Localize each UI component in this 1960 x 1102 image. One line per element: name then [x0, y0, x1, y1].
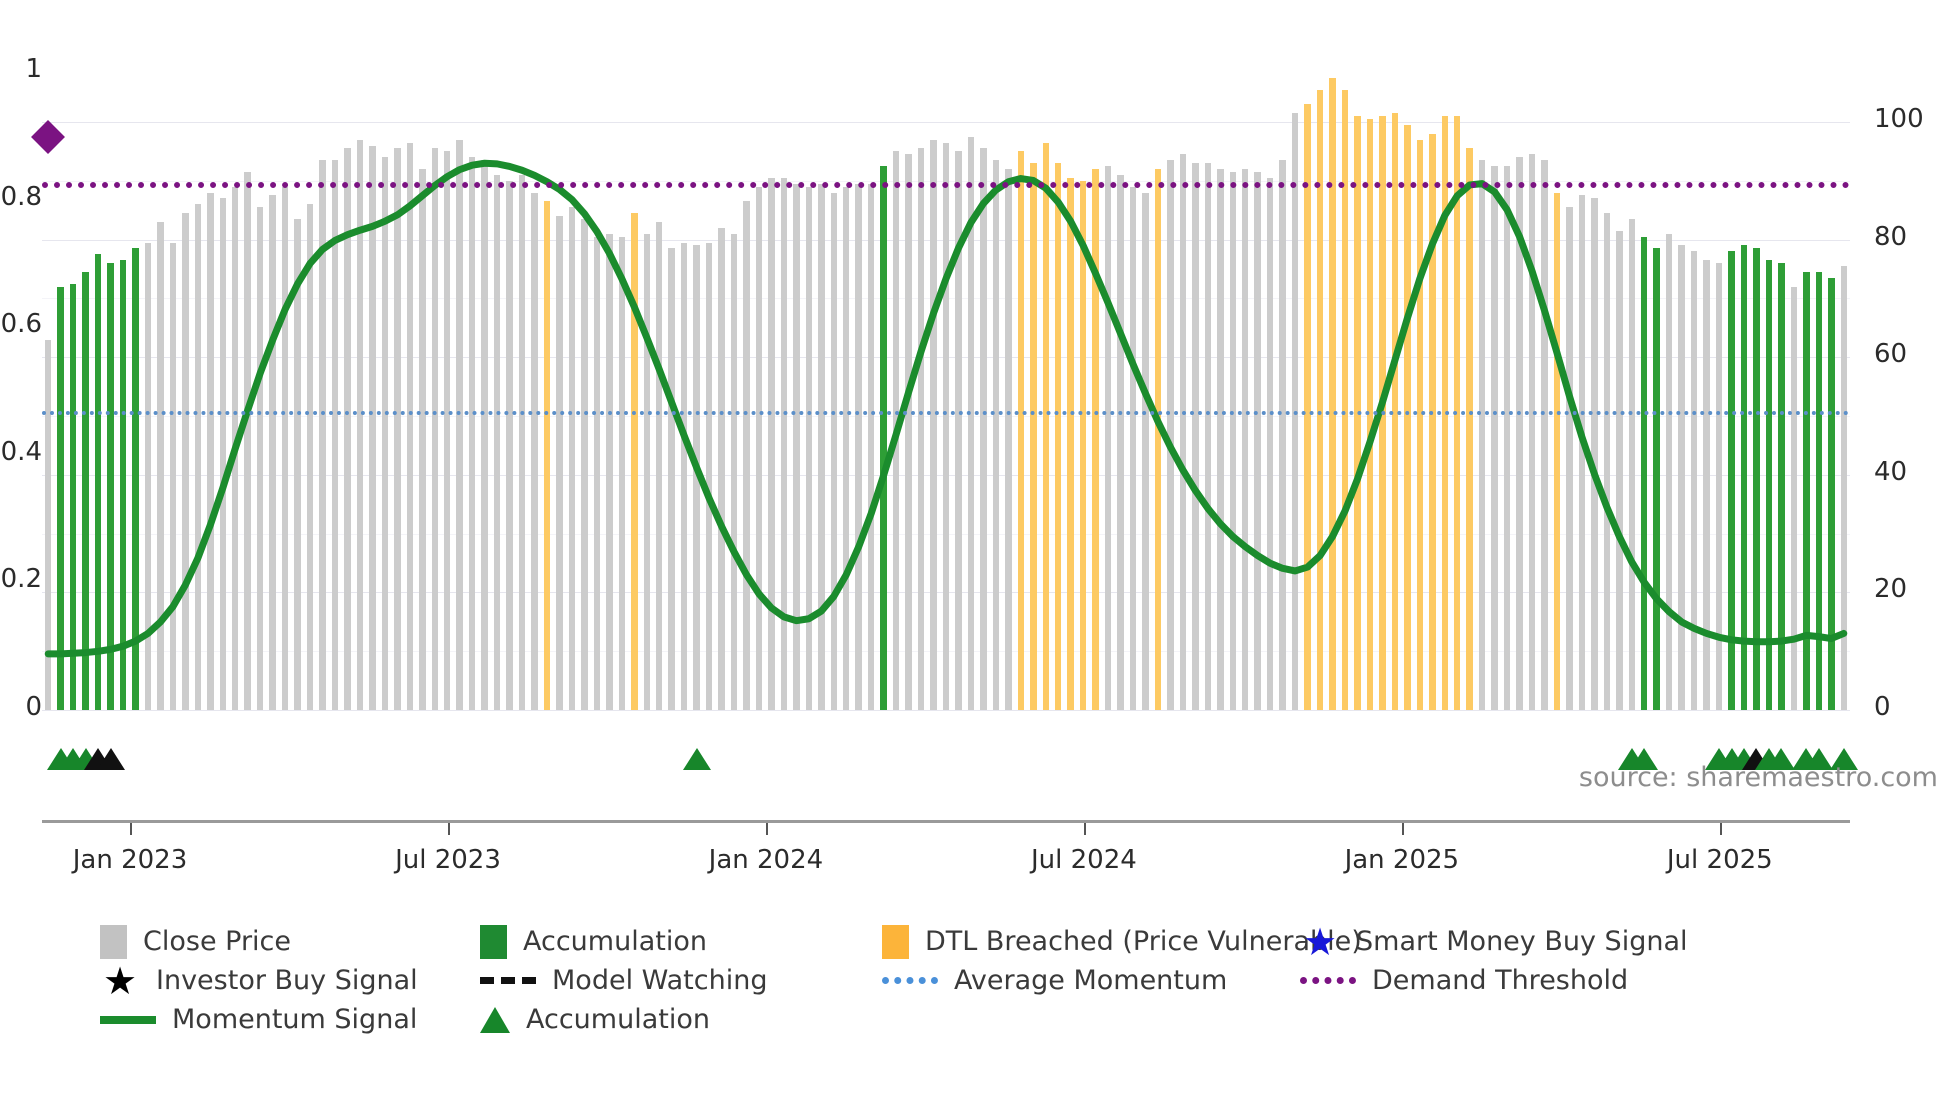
legend-item[interactable]: Accumulation — [480, 1000, 710, 1039]
average-momentum-line — [42, 411, 1850, 415]
legend-item[interactable]: Model Watching — [480, 961, 767, 1000]
x-axis-tick-mark — [1084, 823, 1086, 835]
legend-item-label: Investor Buy Signal — [156, 965, 418, 996]
momentum-signal-line — [42, 72, 1850, 710]
plot-area — [42, 72, 1850, 710]
legend-item-label: Accumulation — [523, 926, 707, 957]
y-axis-left-tick: 0.6 — [1, 309, 42, 339]
chart-screenshot: 00.20.40.60.81 020406080100 Jan 2023Jul … — [0, 0, 1960, 1102]
source-watermark: source: sharemaestro.com — [1579, 762, 1938, 793]
x-axis-tick-label: Jul 2024 — [1031, 845, 1137, 875]
legend-item-label: DTL Breached (Price Vulnerable) — [925, 926, 1362, 957]
x-axis-tick-label: Jan 2024 — [709, 845, 824, 875]
momentum-signal-line-icon — [100, 1016, 156, 1024]
legend-row-0: Close PriceAccumulationDTL Breached (Pri… — [100, 922, 1940, 961]
accumulation-marker — [683, 748, 711, 770]
accumulation-triangle-icon — [480, 1007, 510, 1033]
legend-item[interactable]: Average Momentum — [882, 961, 1227, 1000]
y-axis-left-tick: 0.4 — [1, 437, 42, 467]
legend-item[interactable]: ★Investor Buy Signal — [100, 961, 418, 1000]
x-axis-line — [42, 820, 1850, 823]
x-axis-tick-mark — [766, 823, 768, 835]
close-price-swatch — [100, 925, 127, 959]
legend-row-1: ★Investor Buy SignalModel WatchingAverag… — [100, 961, 1940, 1000]
legend-item-label: Momentum Signal — [172, 1004, 417, 1035]
y-axis-right-tick: 20 — [1874, 574, 1907, 604]
legend-item-label: Demand Threshold — [1372, 965, 1628, 996]
x-axis-tick-mark — [1720, 823, 1722, 835]
x-axis-tick-mark — [130, 823, 132, 835]
gridline — [42, 710, 1850, 711]
investor-buy-signal-star-icon: ★ — [100, 962, 140, 1000]
y-axis-right-tick: 100 — [1874, 104, 1924, 134]
y-axis-right-tick: 40 — [1874, 457, 1907, 487]
momentum-signal-path — [48, 163, 1844, 654]
accumulation-swatch — [480, 925, 507, 959]
x-axis-tick-mark — [448, 823, 450, 835]
legend-item[interactable]: ★Smart Money Buy Signal — [1300, 922, 1688, 961]
y-axis-right-tick: 60 — [1874, 339, 1907, 369]
legend-item[interactable]: DTL Breached (Price Vulnerable) — [882, 922, 1362, 961]
dtl-breached-swatch — [882, 925, 909, 959]
demand-threshold-dot-icon — [1300, 977, 1356, 984]
legend-item[interactable]: Demand Threshold — [1300, 961, 1628, 1000]
y-axis-left-tick: 1 — [25, 54, 42, 84]
legend-item-label: Average Momentum — [954, 965, 1227, 996]
y-axis-left-tick: 0.8 — [1, 182, 42, 212]
x-axis-tick-label: Jul 2025 — [1667, 845, 1773, 875]
legend-row-2: Momentum SignalAccumulation — [100, 1000, 1940, 1039]
average-momentum-dot-icon — [882, 977, 938, 984]
chart-legend: Close PriceAccumulationDTL Breached (Pri… — [100, 922, 1940, 1039]
x-axis-tick-label: Jan 2023 — [73, 845, 188, 875]
legend-item-label: Close Price — [143, 926, 291, 957]
legend-item-label: Accumulation — [526, 1004, 710, 1035]
investor-buy-signal-marker — [97, 748, 125, 770]
y-axis-right-tick: 0 — [1874, 692, 1891, 722]
smart-money-buy-signal-star-icon: ★ — [1300, 923, 1340, 961]
x-axis-tick-label: Jul 2023 — [395, 845, 501, 875]
y-axis-left-tick: 0.2 — [1, 564, 42, 594]
legend-item[interactable]: Accumulation — [480, 922, 707, 961]
y-axis-left-tick: 0 — [25, 692, 42, 722]
legend-item-label: Smart Money Buy Signal — [1356, 926, 1688, 957]
legend-item-label: Model Watching — [552, 965, 767, 996]
legend-item[interactable]: Close Price — [100, 922, 291, 961]
x-axis-tick-label: Jan 2025 — [1345, 845, 1460, 875]
legend-item[interactable]: Momentum Signal — [100, 1000, 417, 1039]
y-axis-right-tick: 80 — [1874, 222, 1907, 252]
demand-threshold-line — [42, 182, 1850, 188]
x-axis-tick-mark — [1402, 823, 1404, 835]
model-watching-dash-icon — [480, 977, 536, 984]
